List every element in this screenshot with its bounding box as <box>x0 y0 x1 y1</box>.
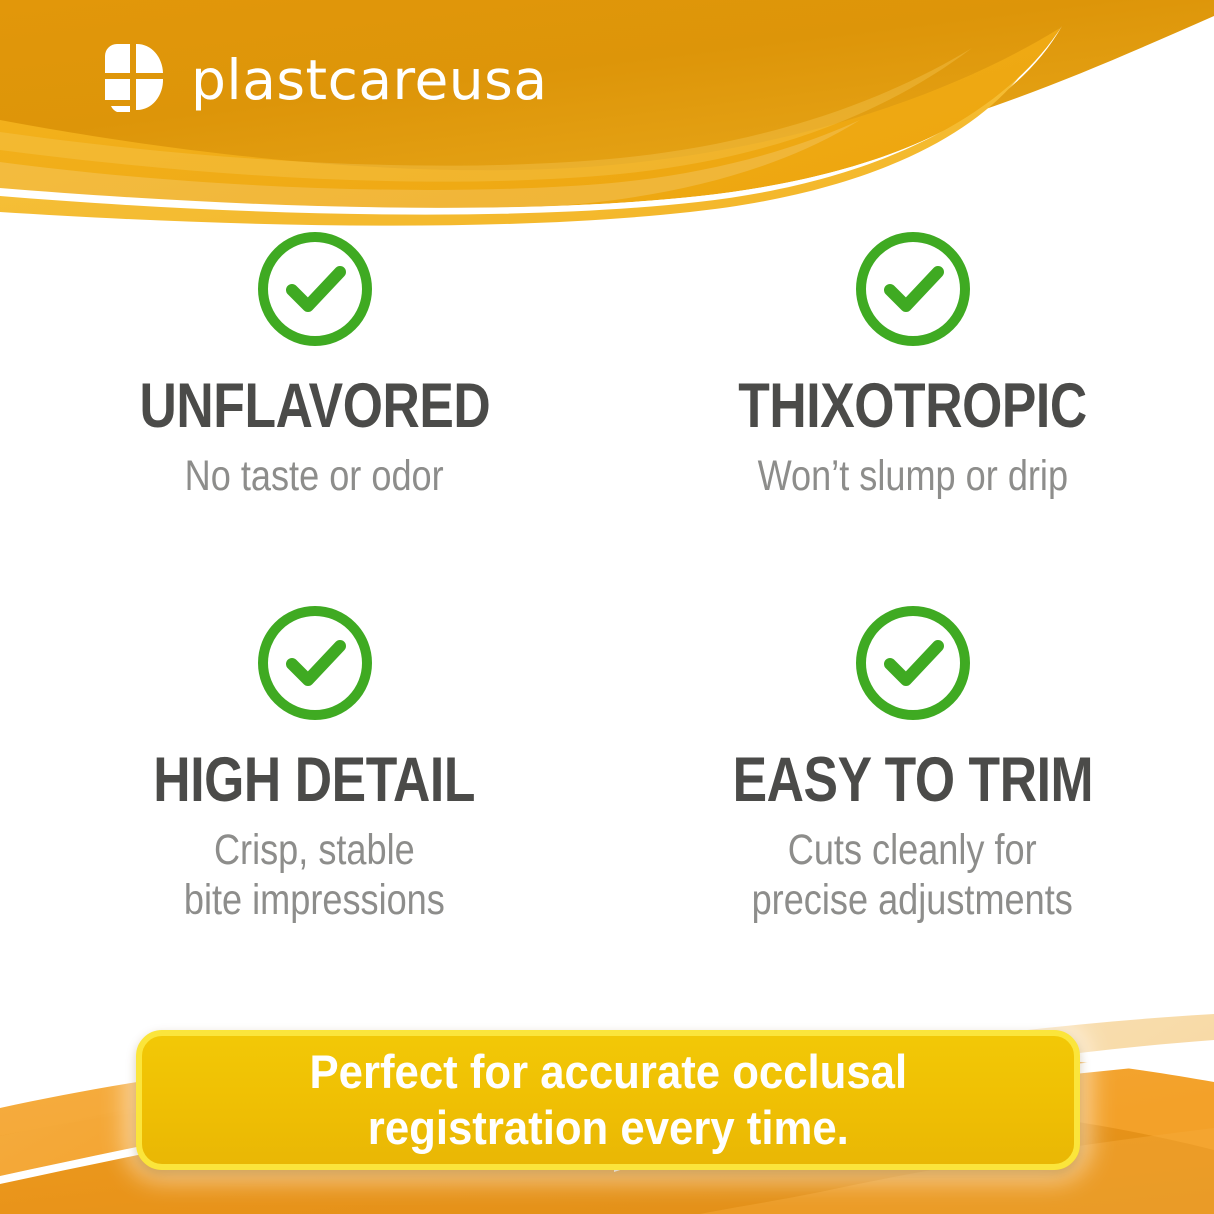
feature-title: THIXOTROPIC <box>738 376 1087 438</box>
plus-cross-logo-icon <box>103 42 165 114</box>
feature-item-unflavored: UNFLAVORED No taste or odor <box>0 228 607 602</box>
feature-item-thixotropic: THIXOTROPIC Won’t slump or drip <box>607 228 1214 602</box>
feature-grid: UNFLAVORED No taste or odor THIXOTROPIC … <box>0 228 1214 976</box>
feature-subtitle: Crisp, stable bite impressions <box>184 826 445 926</box>
callout-banner: Perfect for accurate occlusal registrati… <box>136 1030 1080 1170</box>
check-circle-icon <box>254 228 376 350</box>
product-feature-poster: plastcareusa UNFLAVORED No taste or odor… <box>0 0 1214 1214</box>
feature-item-high-detail: HIGH DETAIL Crisp, stable bite impressio… <box>0 602 607 976</box>
check-circle-icon <box>852 602 974 724</box>
feature-subtitle: Cuts cleanly for precise adjustments <box>752 826 1073 926</box>
feature-title: UNFLAVORED <box>139 376 490 438</box>
feature-item-easy-to-trim: EASY TO TRIM Cuts cleanly for precise ad… <box>607 602 1214 976</box>
brand-header: plastcareusa <box>103 42 548 114</box>
feature-title: EASY TO TRIM <box>732 750 1093 812</box>
callout-banner-text: Perfect for accurate occlusal registrati… <box>309 1044 907 1157</box>
check-circle-icon <box>254 602 376 724</box>
feature-subtitle: No taste or odor <box>185 452 444 502</box>
check-circle-icon <box>852 228 974 350</box>
feature-subtitle: Won’t slump or drip <box>757 452 1067 502</box>
feature-title: HIGH DETAIL <box>154 750 476 812</box>
brand-wordmark: plastcareusa <box>191 53 548 108</box>
